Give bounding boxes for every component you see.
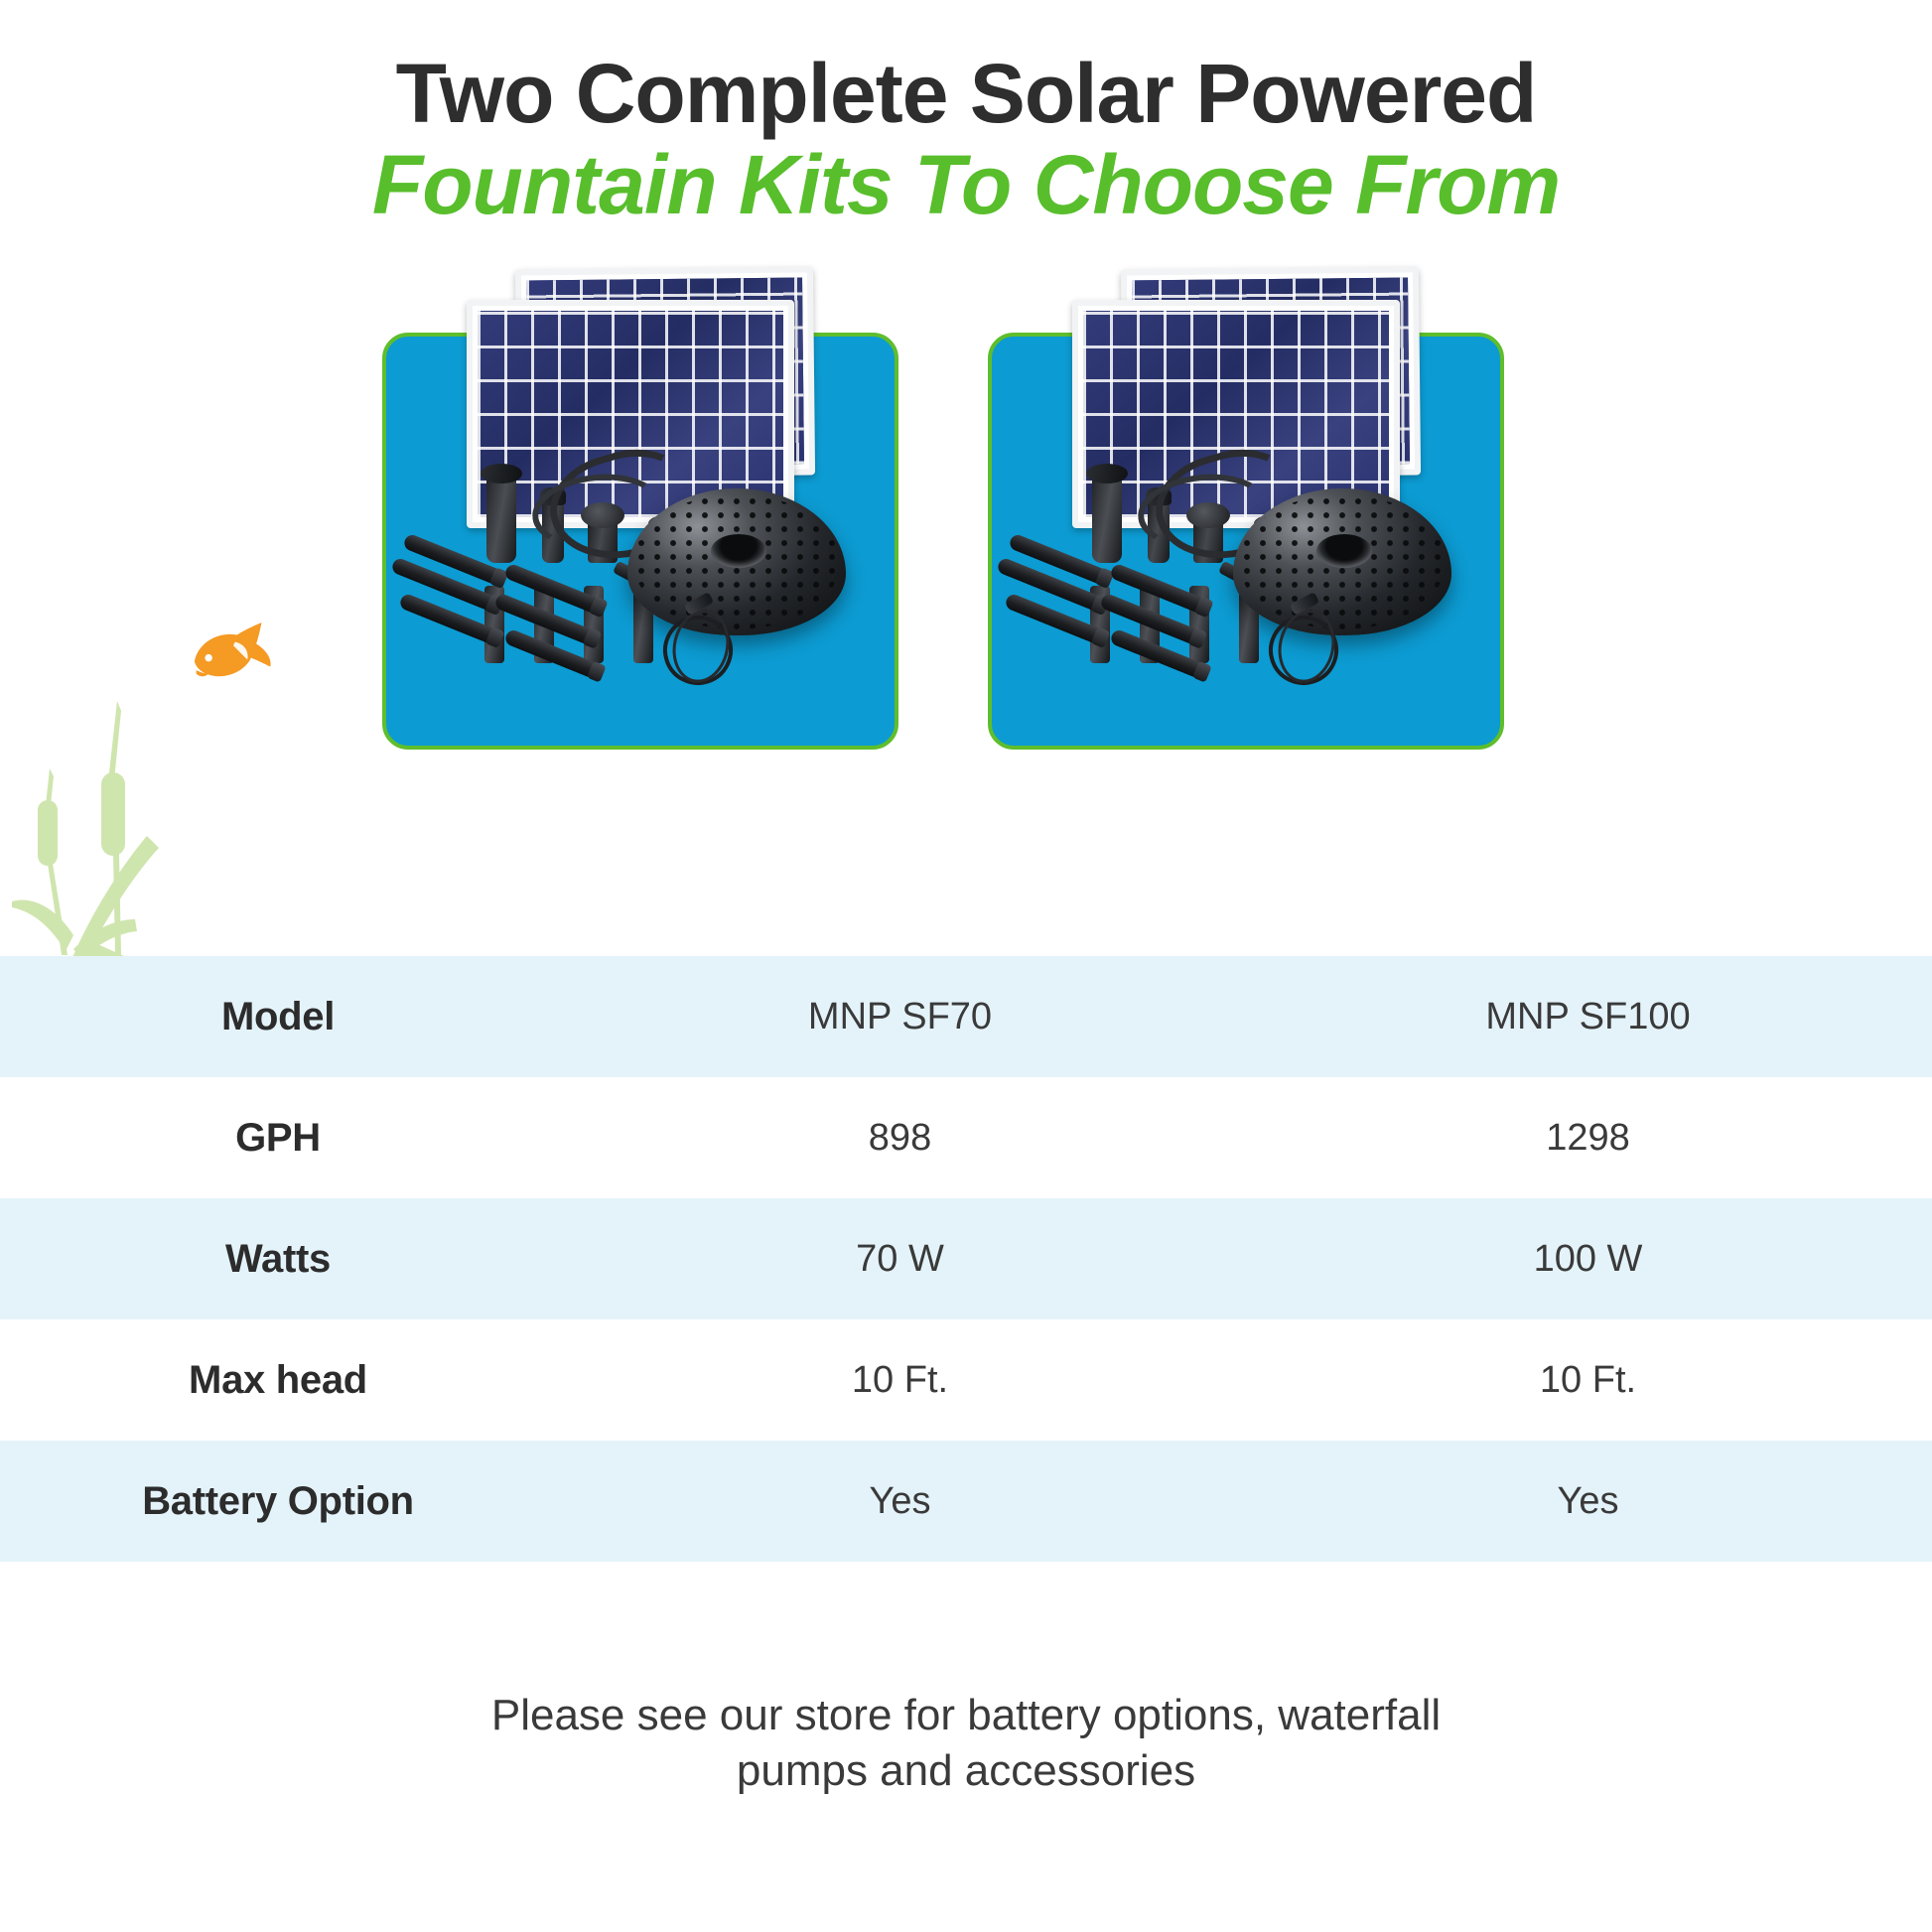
spec-label-model: Model bbox=[0, 995, 556, 1039]
spec-label-max-head: Max head bbox=[0, 1358, 556, 1403]
pump-outlet bbox=[1316, 534, 1372, 568]
fountain-nozzle bbox=[1092, 472, 1122, 563]
footer-note-line1: Please see our store for battery options… bbox=[0, 1688, 1932, 1743]
spec-value-sf70-max-head: 10 Ft. bbox=[556, 1359, 1244, 1402]
spec-value-sf100-watts: 100 W bbox=[1244, 1238, 1932, 1281]
spec-value-sf70-model: MNP SF70 bbox=[556, 996, 1244, 1038]
page-header: Two Complete Solar Powered Fountain Kits… bbox=[0, 0, 1932, 227]
cable-harness bbox=[1261, 606, 1350, 685]
spec-value-sf70-gph: 898 bbox=[556, 1117, 1244, 1160]
footer-note: Please see our store for battery options… bbox=[0, 1688, 1932, 1800]
spec-value-sf100-max-head: 10 Ft. bbox=[1244, 1359, 1932, 1402]
table-row: GPH 898 1298 bbox=[0, 1077, 1932, 1198]
table-row: Max head 10 Ft. 10 Ft. bbox=[0, 1319, 1932, 1441]
table-row: Watts 70 W 100 W bbox=[0, 1198, 1932, 1319]
footer-note-line2: pumps and accessories bbox=[0, 1743, 1932, 1799]
spec-value-sf70-battery-option: Yes bbox=[556, 1480, 1244, 1523]
pump-outlet bbox=[711, 534, 766, 568]
fountain-nozzle bbox=[486, 472, 516, 563]
spec-value-sf100-battery-option: Yes bbox=[1244, 1480, 1932, 1523]
spec-label-battery-option: Battery Option bbox=[0, 1479, 556, 1524]
table-row: Model MNP SF70 MNP SF100 bbox=[0, 956, 1932, 1077]
spec-label-gph: GPH bbox=[0, 1116, 556, 1161]
page-title-line2: Fountain Kits To Choose From bbox=[0, 143, 1932, 228]
product-kits bbox=[0, 258, 1932, 953]
spec-label-watts: Watts bbox=[0, 1237, 556, 1282]
cable-harness bbox=[655, 606, 745, 685]
spec-value-sf70-watts: 70 W bbox=[556, 1238, 1244, 1281]
solar-fountain-kit-sf100[interactable] bbox=[963, 258, 1688, 953]
spec-comparison-table: Model MNP SF70 MNP SF100 GPH 898 1298 Wa… bbox=[0, 956, 1932, 1562]
spec-value-sf100-gph: 1298 bbox=[1244, 1117, 1932, 1160]
page-title-line1: Two Complete Solar Powered bbox=[0, 52, 1932, 137]
table-row: Battery Option Yes Yes bbox=[0, 1441, 1932, 1562]
spec-value-sf100-model: MNP SF100 bbox=[1244, 996, 1932, 1038]
